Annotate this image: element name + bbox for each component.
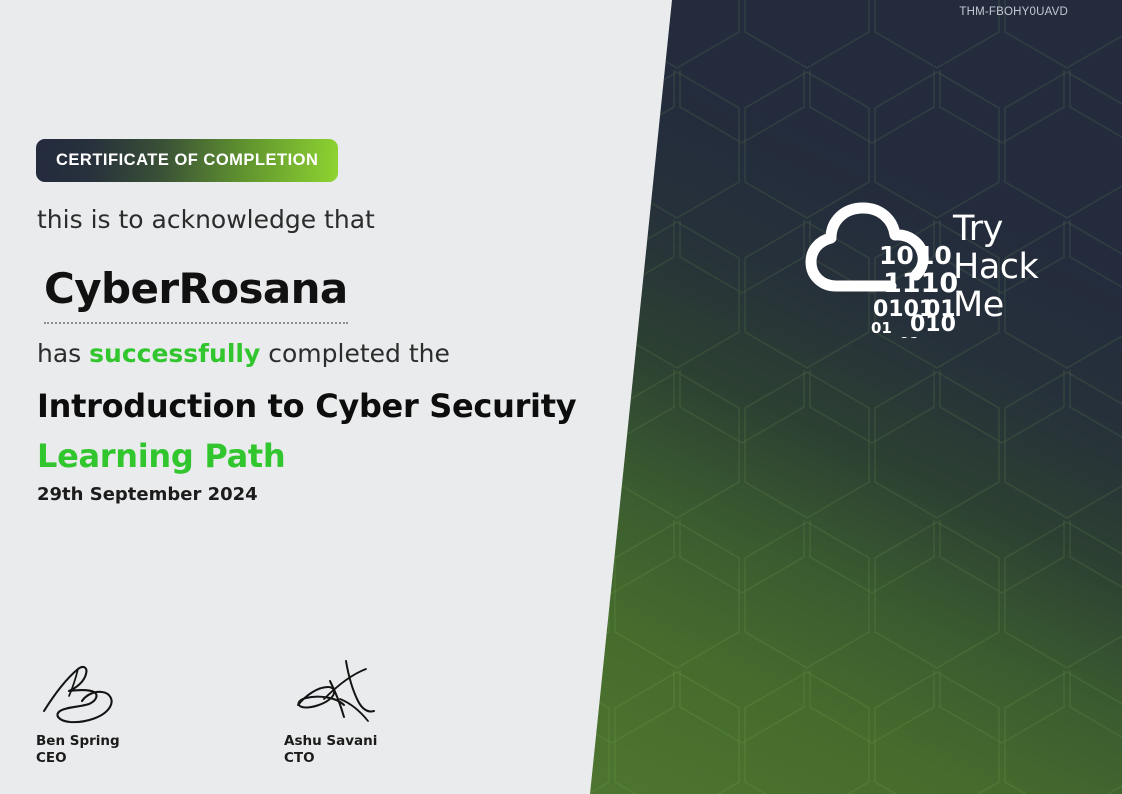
signature-ashu-savani-icon — [284, 655, 394, 727]
completion-date: 29th September 2024 — [37, 484, 258, 505]
has-text: has — [37, 339, 89, 368]
decorative-panel — [562, 0, 1122, 794]
signer-role: CEO — [36, 750, 166, 767]
completion-statement: has successfully completed the — [37, 339, 450, 368]
cloud-binary-icon: 10 10 1110 0101 01 01 010 01 — [805, 186, 965, 338]
signer-role: CTO — [284, 750, 414, 767]
certificate-id: THM-FBOHY0UAVD — [959, 6, 1068, 18]
successfully-highlight: successfully — [89, 339, 260, 368]
svg-text:01: 01 — [871, 319, 892, 337]
brand-line-me: Me — [953, 286, 1038, 324]
hexagon-pattern-icon — [562, 0, 1122, 794]
svg-text:10: 10 — [879, 241, 914, 270]
svg-text:10: 10 — [917, 241, 952, 270]
course-category: Learning Path — [37, 431, 576, 481]
signer-name: Ben Spring — [36, 733, 166, 750]
signature-block-cto: Ashu Savani CTO — [284, 655, 414, 767]
signer-name: Ashu Savani — [284, 733, 414, 750]
brand-wordmark: Try Hack Me — [953, 210, 1038, 324]
brand-line-hack: Hack — [953, 248, 1038, 286]
recipient-name: CyberRosana — [44, 264, 348, 324]
course-title: Introduction to Cyber Security — [37, 387, 576, 425]
svg-text:1110: 1110 — [883, 268, 958, 299]
signature-block-ceo: Ben Spring CEO — [36, 655, 166, 767]
tryhackme-logo: 10 10 1110 0101 01 01 010 01 Try Hack Me — [805, 186, 1085, 338]
signature-area: Ben Spring CEO Ashu Savani CTO — [36, 655, 414, 767]
acknowledge-text: this is to acknowledge that — [37, 205, 375, 234]
completion-badge: CERTIFICATE OF COMPLETION — [36, 139, 338, 182]
signature-ben-spring-icon — [36, 655, 146, 727]
brand-line-try: Try — [953, 210, 1038, 248]
completed-text: completed the — [260, 339, 450, 368]
svg-text:01: 01 — [899, 334, 920, 338]
certificate-root: THM-FBOHY0UAVD 10 10 1110 0101 01 01 010… — [0, 0, 1122, 794]
course-title-block: Introduction to Cyber Security Learning … — [37, 381, 576, 481]
